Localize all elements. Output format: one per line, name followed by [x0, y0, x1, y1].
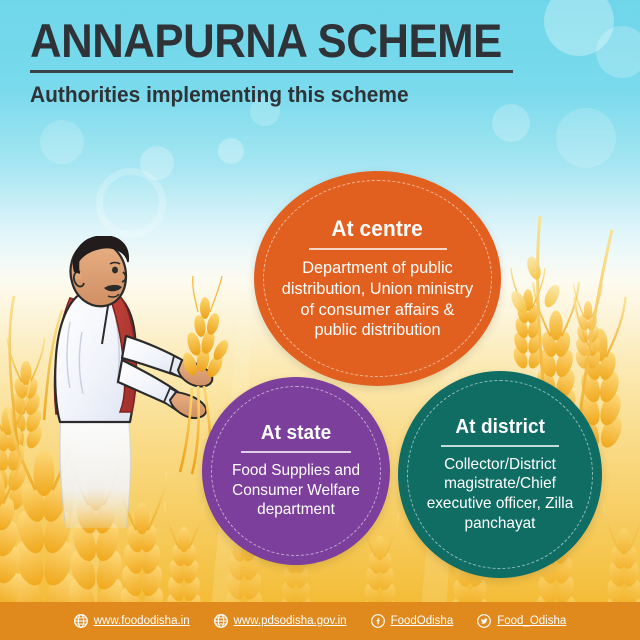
infographic-poster: ANNAPURNA SCHEME Authorities implementin… — [0, 0, 640, 640]
footer-link-pdsodisha[interactable]: www.pdsodisha.gov.in — [214, 614, 347, 628]
bokeh-circle — [556, 108, 616, 168]
bubble-body: Food Supplies and Consumer Welfare depar… — [219, 461, 373, 520]
farmer-illustration — [22, 236, 237, 566]
footer-link-twitter[interactable]: Food_Odisha — [477, 614, 566, 628]
footer-link-facebook[interactable]: FoodOdisha — [371, 614, 454, 628]
footer-link-label: www.pdsodisha.gov.in — [234, 615, 347, 627]
bokeh-circle — [140, 146, 174, 180]
twitter-icon — [477, 614, 491, 628]
authority-bubble-centre: At centre Department of public distribut… — [254, 171, 501, 386]
bubble-heading: At centre — [332, 216, 423, 242]
bokeh-ring — [96, 168, 166, 238]
footer-link-foododisha[interactable]: www.foododisha.in — [74, 614, 190, 628]
bokeh-circle — [544, 0, 614, 56]
bubble-divider — [309, 248, 447, 250]
title-divider — [30, 70, 513, 73]
bubble-heading: At state — [261, 422, 331, 445]
page-title: ANNAPURNA SCHEME — [30, 16, 495, 65]
bubble-body: Collector/District magistrate/Chief exec… — [415, 455, 586, 533]
page-subtitle: Authorities implementing this scheme — [30, 82, 505, 108]
bokeh-circle — [596, 26, 640, 78]
bubble-divider — [441, 445, 559, 447]
bubble-heading: At district — [455, 416, 545, 439]
facebook-icon — [371, 614, 385, 628]
header: ANNAPURNA SCHEME Authorities implementin… — [30, 16, 530, 108]
footer-link-label: FoodOdisha — [391, 615, 454, 627]
bokeh-circle — [492, 104, 530, 142]
globe-icon — [214, 614, 228, 628]
globe-icon — [74, 614, 88, 628]
bubble-divider — [241, 451, 351, 453]
authority-bubble-state: At state Food Supplies and Consumer Welf… — [202, 377, 390, 565]
footer-bar: www.foododisha.in www.pdsodisha.gov.in — [0, 602, 640, 640]
authority-bubble-district: At district Collector/District magistrat… — [398, 371, 602, 578]
footer-link-label: Food_Odisha — [497, 615, 566, 627]
bubble-body: Department of public distribution, Union… — [279, 258, 476, 341]
footer-link-label: www.foododisha.in — [94, 615, 190, 627]
bokeh-circle — [40, 120, 84, 164]
bokeh-circle — [218, 138, 244, 164]
